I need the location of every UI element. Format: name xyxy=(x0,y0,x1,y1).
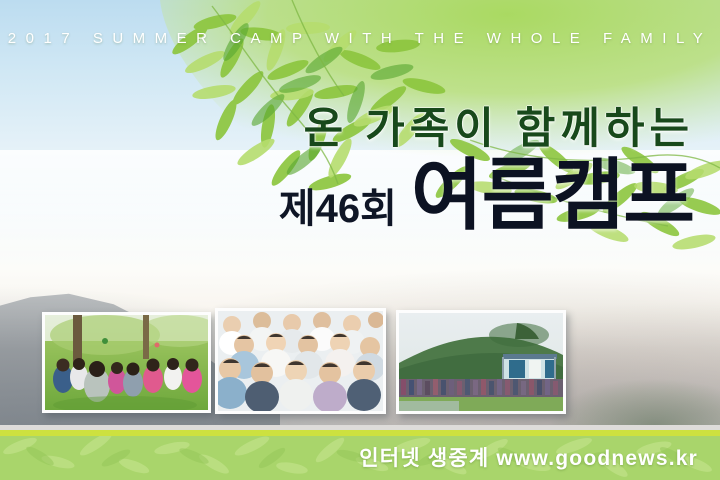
headline-main-row: 제46회 여름캠프 xyxy=(279,157,694,233)
photo-grass-circle xyxy=(42,312,211,413)
headline-main: 여름캠프 xyxy=(411,157,694,233)
footer-broadcast-text: 인터넷 생중계 www.goodnews.kr xyxy=(359,442,698,472)
poster-canvas: 2017 SUMMER CAMP WITH THE WHOLE FAMILY 온… xyxy=(0,0,720,480)
footer-bar: 인터넷 생중계 www.goodnews.kr xyxy=(0,430,720,480)
headline-subtitle: 온 가족이 함께하는 xyxy=(279,108,694,151)
headline-edition: 제46회 xyxy=(279,190,397,229)
photo-laughing-crowd xyxy=(215,308,386,414)
photo-outdoor-stage xyxy=(396,310,566,414)
poster-tagline: 2017 SUMMER CAMP WITH THE WHOLE FAMILY xyxy=(0,30,720,47)
poster-headline: 온 가족이 함께하는 제46회 여름캠프 xyxy=(279,108,694,233)
